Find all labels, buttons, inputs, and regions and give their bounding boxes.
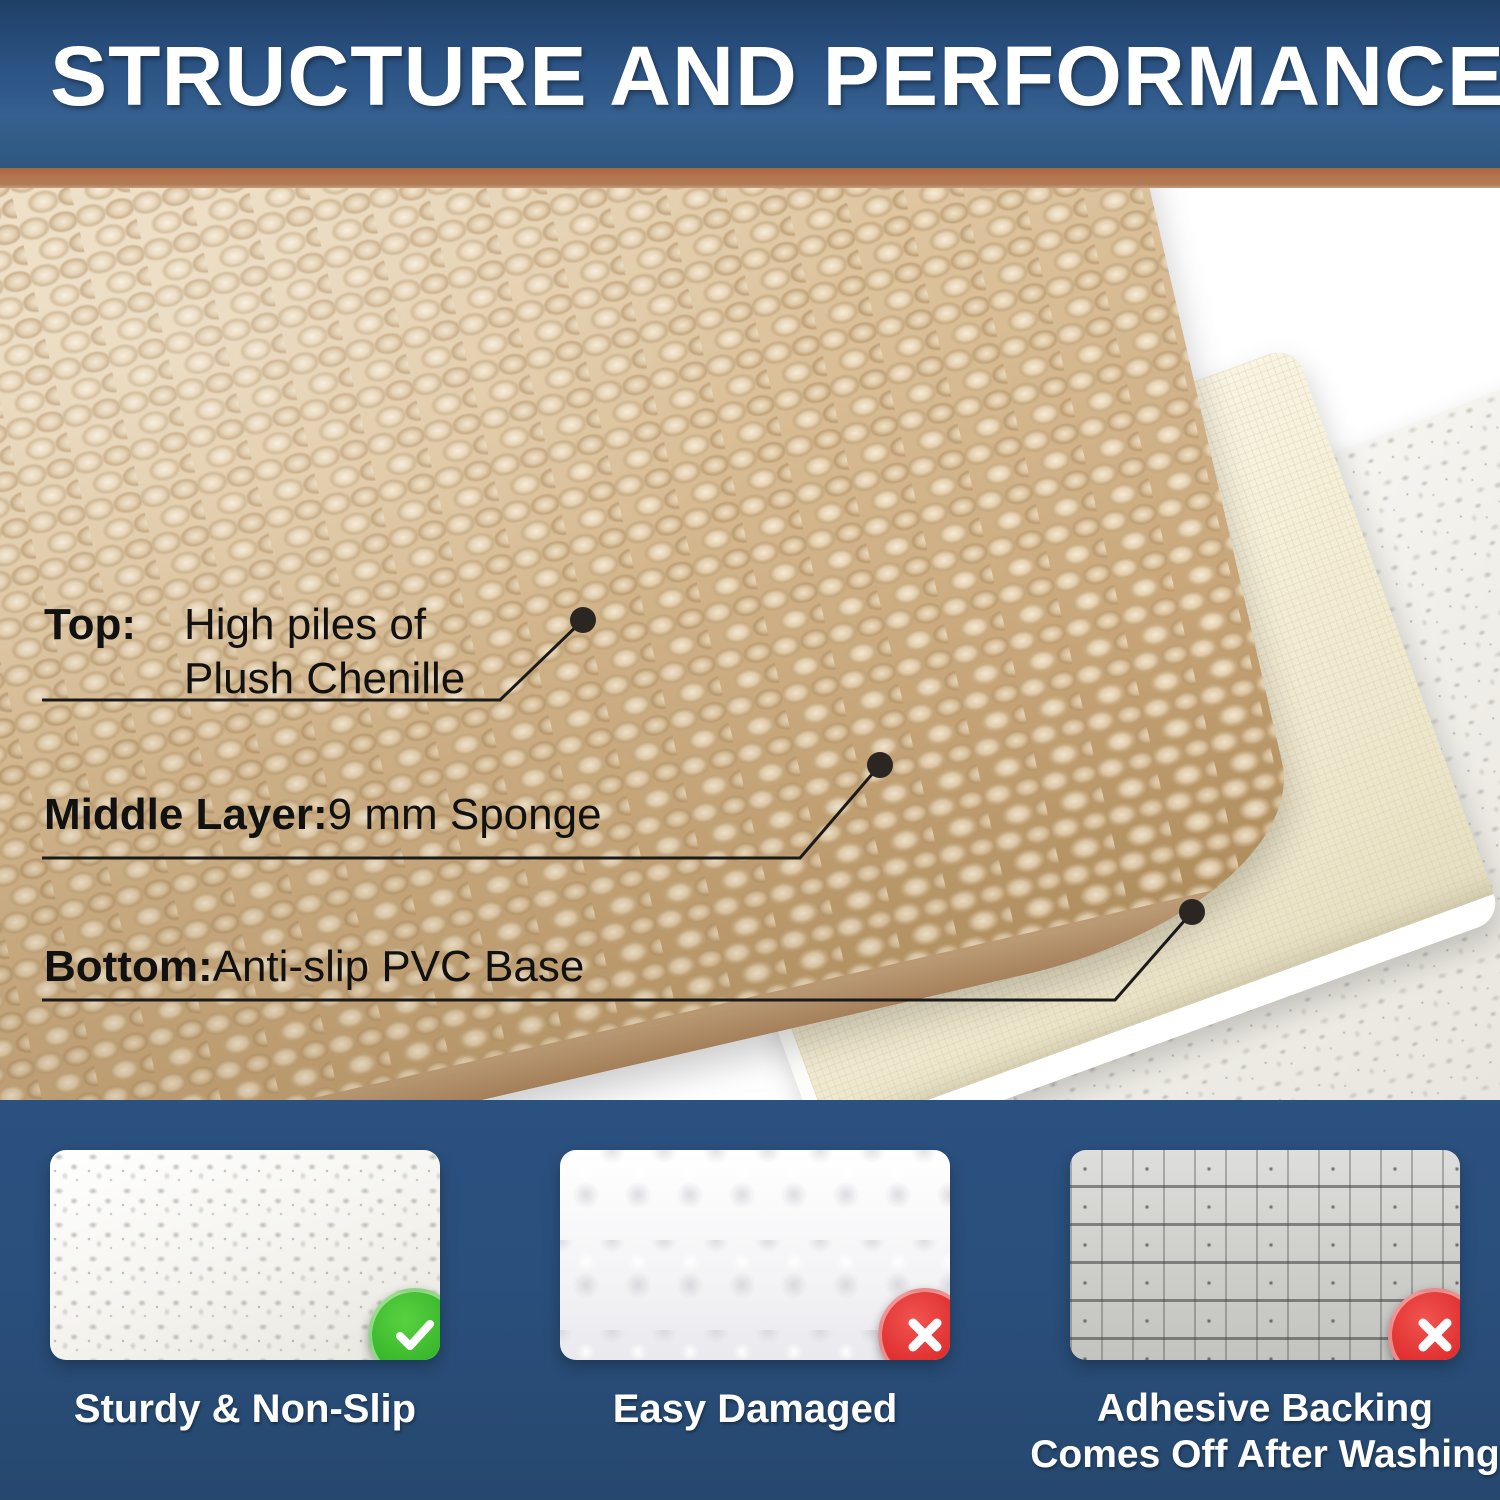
comparison-card: Adhesive Backing Comes Off After Washing xyxy=(1070,1150,1460,1478)
infographic-page: STRUCTURE AND PERFORMANCE Top:High piles… xyxy=(0,0,1500,1500)
comparison-caption: Sturdy & Non-Slip xyxy=(50,1386,440,1432)
callout-key-top: Top: xyxy=(44,598,184,652)
comparison-card: Sturdy & Non-Slip xyxy=(50,1150,440,1432)
page-title: STRUCTURE AND PERFORMANCE xyxy=(50,30,1498,122)
callout-dot-top xyxy=(570,607,596,633)
header-band: STRUCTURE AND PERFORMANCE xyxy=(0,0,1500,168)
comparison-caption: Adhesive Backing Comes Off After Washing xyxy=(1030,1386,1500,1478)
callout-label-bottom: Bottom:Anti-slip PVC Base xyxy=(44,942,584,992)
close-icon xyxy=(1410,1310,1460,1360)
callout-value-top: High piles of Plush Chenille xyxy=(184,598,465,706)
callout-value-bottom: Anti-slip PVC Base xyxy=(213,942,585,991)
callout-label-middle: Middle Layer:9 mm Sponge xyxy=(44,790,602,840)
check-icon xyxy=(389,1309,440,1360)
comparison-card-list: Sturdy & Non-Slip Easy Damaged xyxy=(0,1100,1500,1500)
close-icon xyxy=(900,1310,950,1360)
callout-key-bottom: Bottom: xyxy=(44,942,213,991)
embossed-star-texture-swatch xyxy=(560,1150,950,1360)
pvc-mesh-texture-swatch xyxy=(50,1150,440,1360)
cross-badge xyxy=(1388,1288,1460,1360)
callout-dot-middle xyxy=(867,752,893,778)
callout-label-top: Top:High piles of Plush Chenille xyxy=(44,598,465,706)
comparison-panel: Sturdy & Non-Slip Easy Damaged xyxy=(0,1100,1500,1500)
cross-badge xyxy=(878,1288,950,1360)
gray-grid-texture-swatch xyxy=(1070,1150,1460,1360)
check-badge xyxy=(368,1288,440,1360)
callout-key-middle: Middle Layer: xyxy=(44,790,328,839)
header-accent-strip xyxy=(0,168,1500,188)
comparison-card: Easy Damaged xyxy=(560,1150,950,1432)
callout-dot-bottom xyxy=(1179,899,1205,925)
callout-value-middle: 9 mm Sponge xyxy=(328,790,602,839)
comparison-caption: Easy Damaged xyxy=(560,1386,950,1432)
